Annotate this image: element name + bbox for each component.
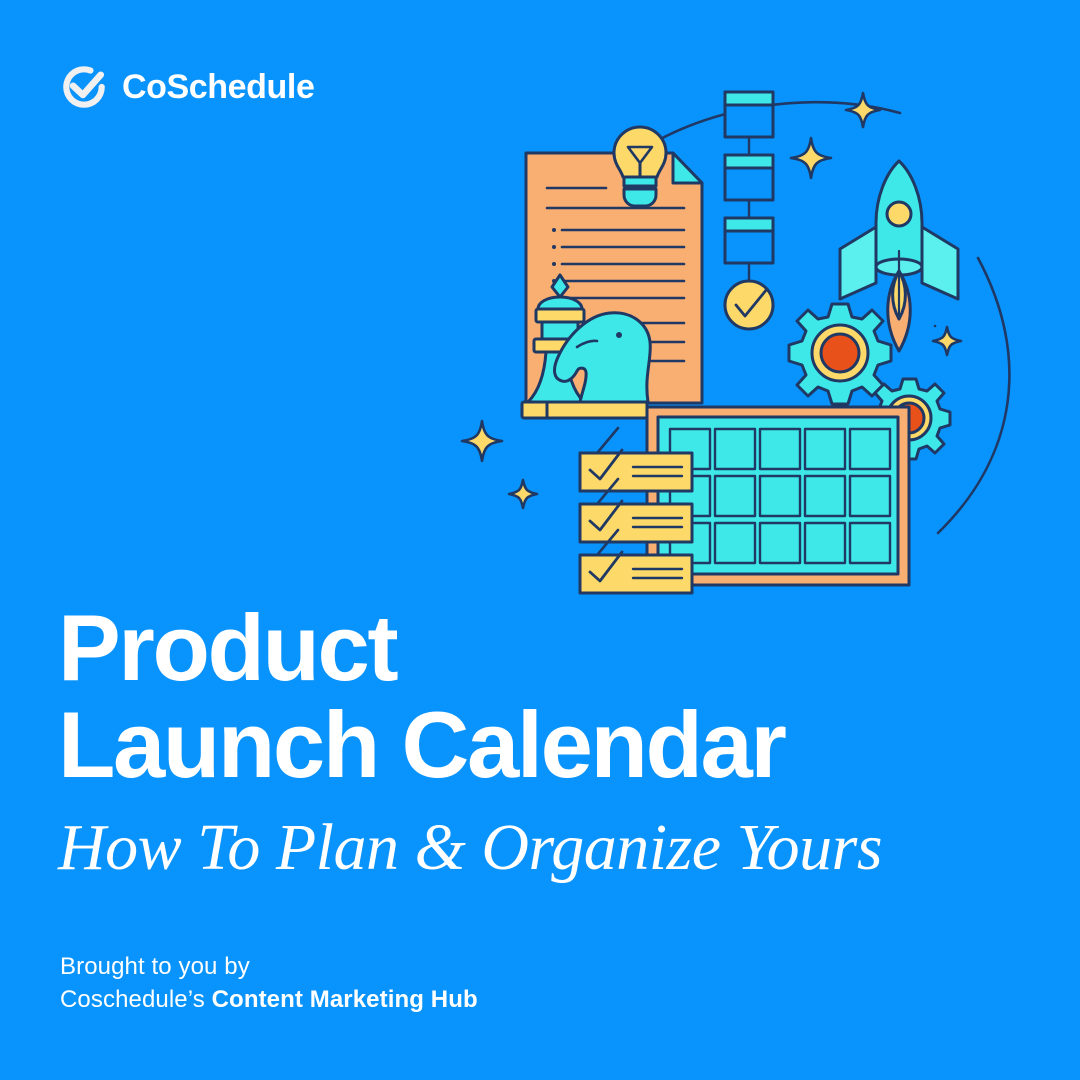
footer-attribution: Brought to you by Coschedule’s Content M… bbox=[60, 950, 478, 1016]
flowchart-nodes bbox=[725, 92, 773, 281]
page-title: Product Launch Calendar bbox=[58, 600, 958, 794]
footer-line-2: Coschedule’s Content Marketing Hub bbox=[60, 983, 478, 1016]
footer-brand-emphasis: Content Marketing Hub bbox=[212, 986, 478, 1013]
decorative-arc-right bbox=[938, 258, 1009, 533]
coschedule-check-circle-icon bbox=[60, 63, 108, 111]
footer-brand-prefix: Coschedule’s bbox=[60, 986, 212, 1013]
brand-logo-text: CoSchedule bbox=[122, 70, 314, 104]
gear-large-icon bbox=[789, 304, 891, 404]
checkmark-circle-node bbox=[725, 281, 773, 329]
headline-line-2: Launch Calendar bbox=[58, 697, 958, 794]
page-subtitle: How To Plan & Organize Yours bbox=[58, 812, 882, 885]
headline-line-1: Product bbox=[58, 600, 958, 697]
footer-line-1: Brought to you by bbox=[60, 950, 478, 983]
brand-logo[interactable]: CoSchedule bbox=[60, 63, 314, 111]
poster-canvas: CoSchedule bbox=[0, 0, 1080, 1080]
hero-illustration bbox=[430, 55, 1050, 615]
